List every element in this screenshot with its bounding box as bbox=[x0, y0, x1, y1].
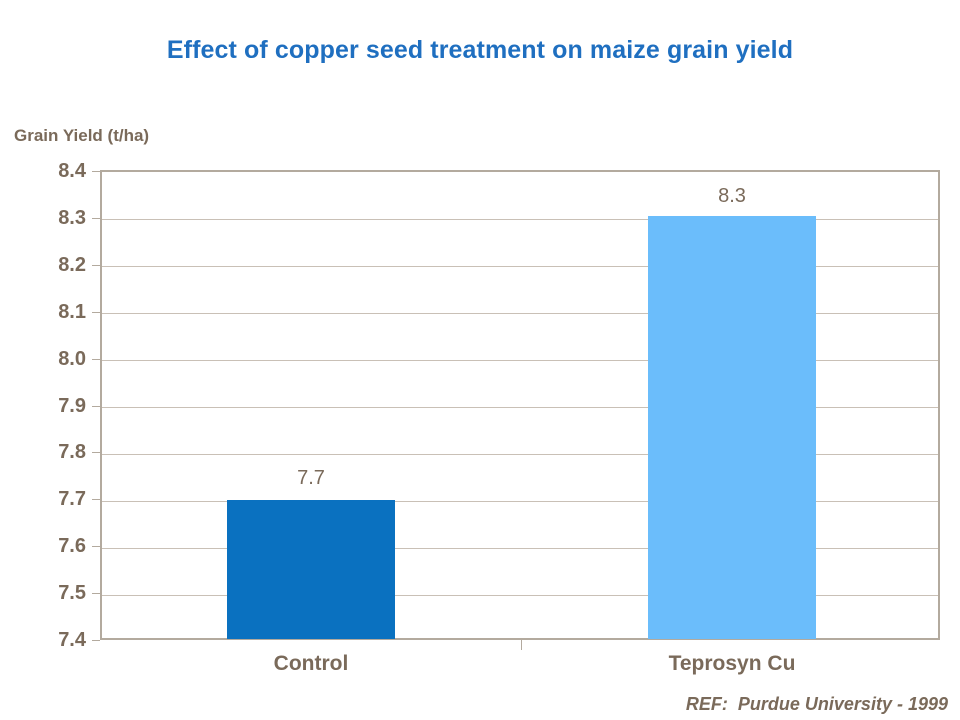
y-tick-label: 8.2 bbox=[2, 255, 86, 275]
bar-control[interactable] bbox=[227, 500, 395, 639]
y-tick-label: 7.5 bbox=[2, 583, 86, 603]
y-axis-tick-labels: 8.4 8.3 8.2 8.1 8.0 7.9 7.8 7.7 7.6 7.5 … bbox=[0, 0, 86, 720]
reference-note: REF: Purdue University - 1999 bbox=[686, 694, 948, 715]
bar-teprosyn-cu[interactable] bbox=[648, 216, 816, 639]
category-label-teprosyn-cu: Teprosyn Cu bbox=[669, 652, 796, 676]
page-title: Effect of copper seed treatment on maize… bbox=[0, 36, 960, 65]
category-divider-tick bbox=[521, 640, 522, 650]
y-tick-label: 8.1 bbox=[2, 302, 86, 322]
y-tick-label: 8.4 bbox=[2, 161, 86, 181]
y-tick-label: 7.7 bbox=[2, 489, 86, 509]
y-tick-label: 7.6 bbox=[2, 536, 86, 556]
y-tick-label: 7.8 bbox=[2, 442, 86, 462]
y-tick-label: 7.9 bbox=[2, 396, 86, 416]
category-label-control: Control bbox=[274, 652, 349, 676]
y-tick-label: 8.3 bbox=[2, 208, 86, 228]
y-tick-label: 7.4 bbox=[2, 630, 86, 650]
y-tick-label: 8.0 bbox=[2, 349, 86, 369]
